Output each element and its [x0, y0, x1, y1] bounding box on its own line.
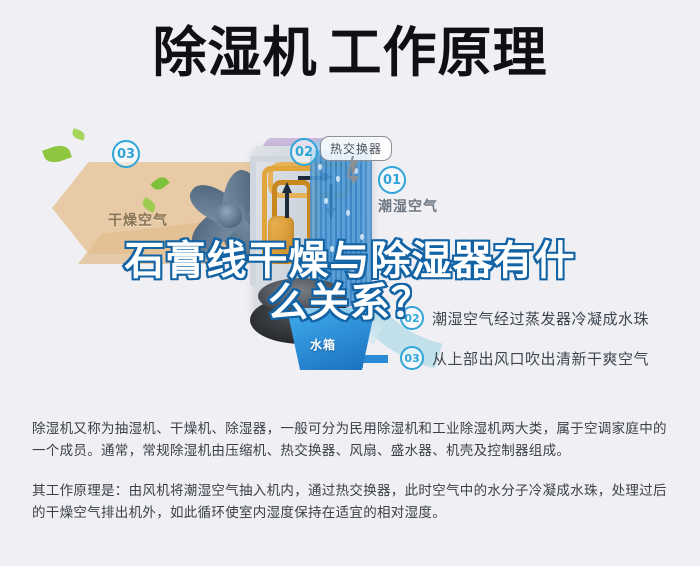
legend-badge-03: 03	[400, 346, 424, 370]
leaf-icon	[42, 142, 72, 166]
dry-air-label: 干燥空气	[108, 210, 168, 230]
infographic-page: 除湿机工作原理 干燥空气	[0, 0, 700, 566]
fan-hub	[218, 204, 242, 228]
legend-badge-02: 02	[400, 306, 424, 330]
water-tank-label: 水箱	[310, 336, 336, 353]
paragraph-1: 除湿机又称为抽湿机、干燥机、除湿器，一般可分为民用除湿机和工业除湿机两大类，属于…	[32, 418, 672, 462]
legend-item: 03 从上部出风口吹出清新干爽空气	[400, 346, 700, 370]
badge-03: 03	[112, 140, 140, 168]
callout-tip-icon	[349, 176, 359, 184]
title-segment-primary: 除湿机	[153, 21, 318, 84]
legend-text-03: 从上部出风口吹出清新干爽空气	[432, 348, 649, 369]
legend-item: 02 潮湿空气经过蒸发器冷凝成水珠	[400, 306, 700, 330]
article-body: 除湿机又称为抽湿机、干燥机、除湿器，一般可分为民用除湿机和工业除湿机两大类，属于…	[32, 418, 672, 542]
paragraph-2: 其工作原理是：由风机将潮湿空气抽入机内，通过热交换器，此时空气中的水分子冷凝成水…	[32, 480, 672, 524]
diagram-legend: 02 潮湿空气经过蒸发器冷凝成水珠 03 从上部出风口吹出清新干爽空气	[400, 306, 700, 386]
title-segment-secondary: 工作原理	[328, 21, 548, 84]
badge-02: 02	[290, 138, 318, 166]
legend-text-02: 潮湿空气经过蒸发器冷凝成水珠	[432, 308, 649, 329]
refrigerant-pipe	[250, 156, 256, 286]
flow-arrow-up-icon	[282, 182, 292, 193]
leaf-icon	[71, 128, 86, 141]
compressor	[268, 216, 294, 264]
flow-arrow-stem	[285, 192, 289, 218]
page-title: 除湿机工作原理	[0, 22, 700, 84]
heat-exchanger-callout: 热交换器	[320, 136, 392, 161]
badge-01: 01	[378, 166, 406, 194]
dehumidifier-diagram: 干燥空气	[0, 118, 700, 398]
moist-air-label: 潮湿空气	[378, 196, 438, 216]
